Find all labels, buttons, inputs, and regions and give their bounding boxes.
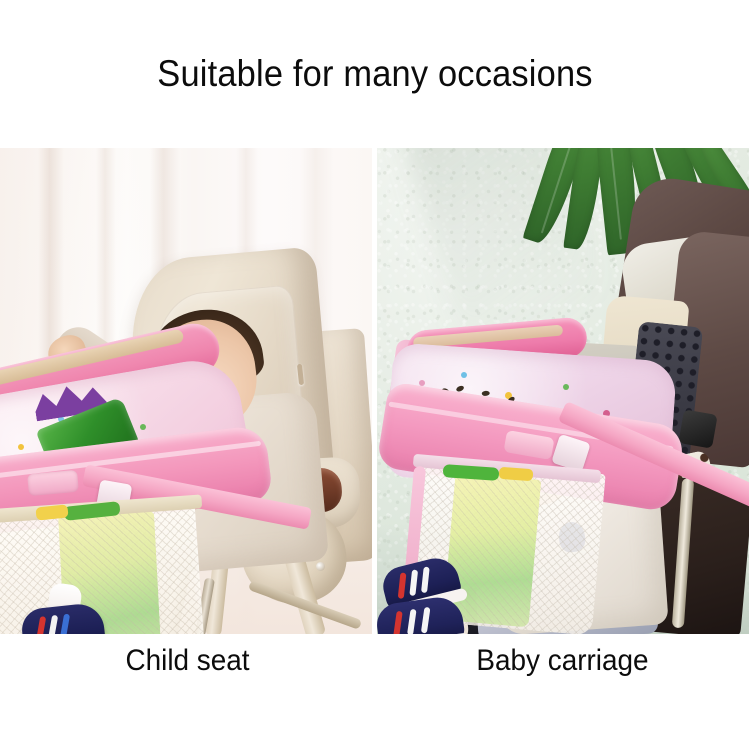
panel-row [0, 148, 750, 634]
caption-row: Child seat Baby carriage [0, 642, 750, 680]
shoe-stripe [421, 567, 430, 593]
tray-print-dot [140, 424, 146, 430]
photo-panel-child-seat [0, 148, 372, 634]
photo-panel-baby-carriage [377, 148, 749, 634]
caption-child-seat: Child seat [13, 642, 362, 680]
tray-strap-loop [27, 470, 79, 496]
shoe-stripe [60, 613, 70, 634]
tray-print-dot [18, 444, 24, 450]
high-chair-bolt [316, 562, 325, 571]
shoe-stripe [421, 607, 431, 634]
tray-print-dot [563, 384, 569, 390]
page-title: Suitable for many occasions [26, 52, 724, 96]
shoe-stripe [36, 616, 46, 634]
mesh-net-contents [443, 473, 542, 628]
shoe-stripe [48, 615, 58, 634]
shoe-stripe [398, 572, 407, 598]
stroller-harness-clip [678, 409, 717, 448]
product-infographic: Suitable for many occasions [0, 0, 750, 750]
mesh-net-item-yellow [499, 467, 534, 481]
caption-baby-carriage: Baby carriage [388, 642, 737, 680]
shoe-stripe [393, 611, 403, 634]
shoe-stripe [409, 570, 418, 596]
tray-print-dot [461, 372, 467, 378]
shoe-stripe [407, 609, 417, 634]
